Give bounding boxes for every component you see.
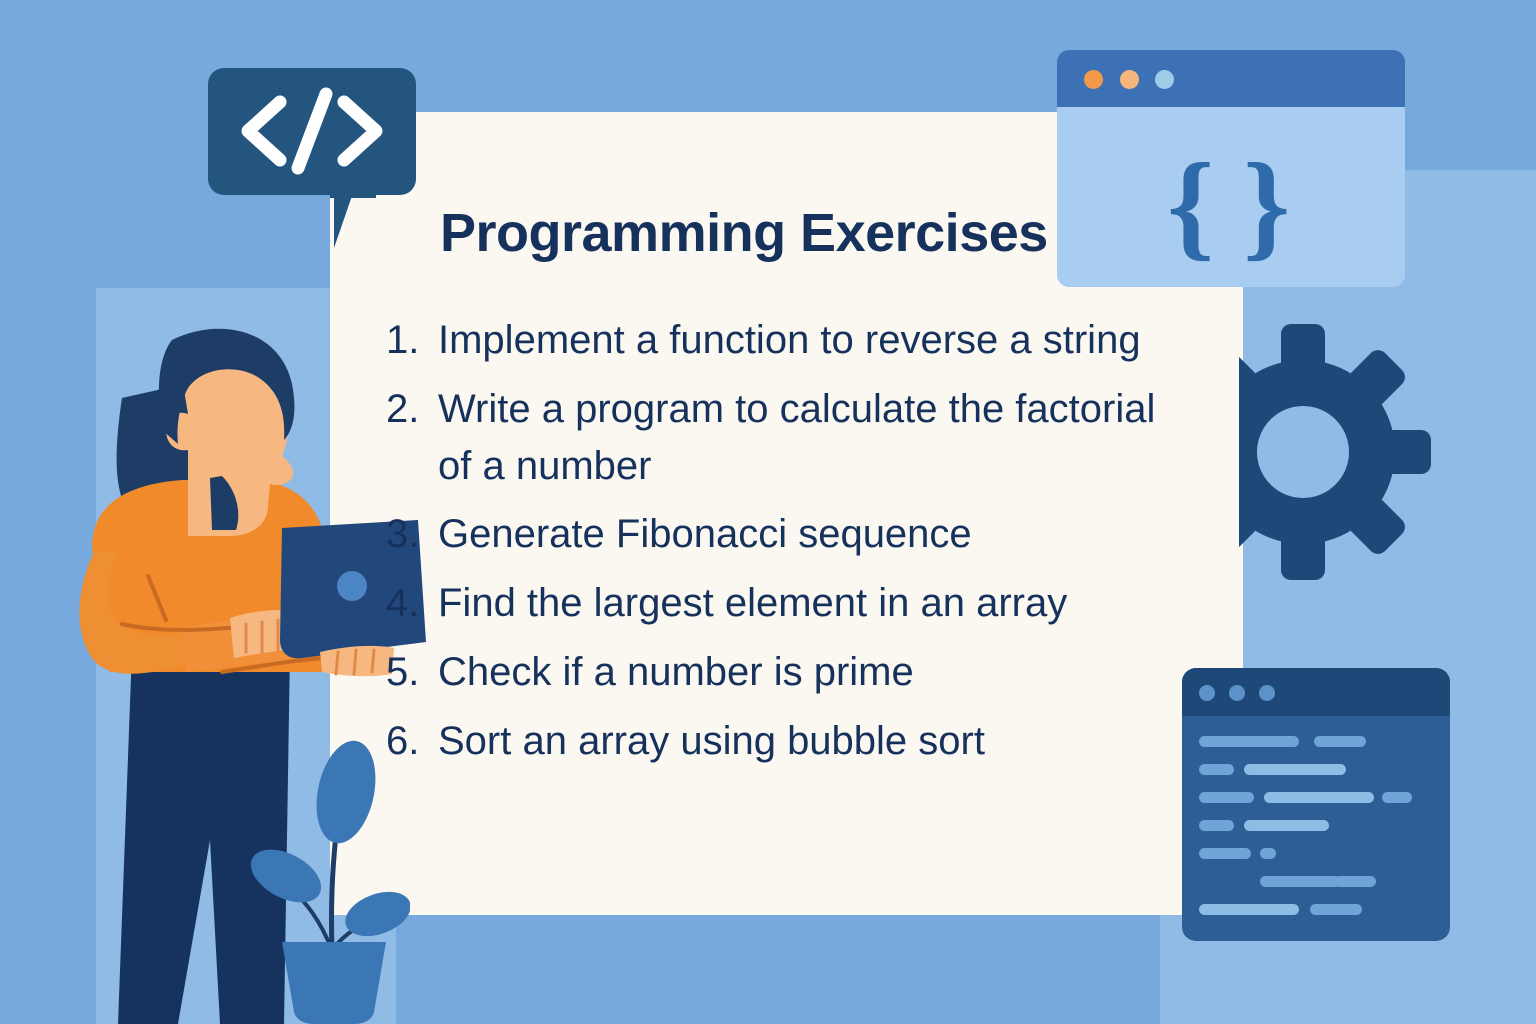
code-bar [1199,792,1254,803]
page-title: Programming Exercises [440,202,1048,264]
light-orange-dot-icon [1120,70,1139,89]
blue-dot-icon [1199,685,1215,701]
code-line-row [1182,820,1450,848]
code-window-title-bar [1182,668,1450,716]
list-item-number: 3. [386,506,438,563]
browser-title-bar [1057,50,1405,107]
list-item-text: Implement a function to reverse a string [438,312,1186,369]
code-editor-window-icon [1182,668,1450,941]
code-bar [1199,764,1234,775]
list-item-number: 6. [386,713,438,770]
list-item: 3. Generate Fibonacci sequence [386,506,1186,563]
code-line-row [1182,848,1450,876]
list-item: 4. Find the largest element in an array [386,575,1186,632]
code-bar [1199,848,1251,859]
list-item-text: Find the largest element in an array [438,575,1186,632]
blue-dot-icon [1259,685,1275,701]
exercise-list: 1. Implement a function to reverse a str… [386,312,1186,782]
list-item-number: 5. [386,644,438,701]
code-bar [1264,792,1374,803]
code-line-row [1182,792,1450,820]
orange-dot-icon [1084,70,1103,89]
brace-left-icon: { [1167,145,1214,265]
list-item: 5. Check if a number is prime [386,644,1186,701]
code-bar [1260,848,1276,859]
code-bar [1199,820,1234,831]
code-bar [1310,904,1362,915]
code-bar [1199,736,1299,747]
code-bar [1314,736,1366,747]
code-line-row [1182,764,1450,792]
poster-canvas: { } [0,0,1536,1024]
code-lines-area [1182,716,1450,941]
list-item-number: 1. [386,312,438,369]
code-bar [1199,904,1299,915]
browser-content-area: { } [1057,107,1405,287]
list-item-number: 4. [386,575,438,632]
code-tags-icon [208,68,416,195]
brace-right-icon: } [1243,145,1290,265]
list-item: 1. Implement a function to reverse a str… [386,312,1186,369]
browser-window-icon: { } [1057,50,1405,287]
list-item: 6. Sort an array using bubble sort [386,713,1186,770]
list-item-text: Sort an array using bubble sort [438,713,1186,770]
code-bar [1244,820,1329,831]
light-blue-dot-icon [1155,70,1174,89]
code-bar [1244,764,1346,775]
code-line-row [1182,904,1450,932]
code-bar [1260,876,1340,887]
list-item: 2. Write a program to calculate the fact… [386,381,1186,495]
list-item-text: Check if a number is prime [438,644,1186,701]
list-item-number: 2. [386,381,438,438]
code-line-row [1182,736,1450,764]
blue-dot-icon [1229,685,1245,701]
gear-icon [1239,318,1451,586]
list-item-text: Write a program to calculate the factori… [438,381,1186,495]
speech-bubble-tail [334,190,378,248]
code-line-row [1182,876,1450,904]
code-bar [1382,792,1412,803]
list-item-text: Generate Fibonacci sequence [438,506,1186,563]
code-bar [1334,876,1376,887]
